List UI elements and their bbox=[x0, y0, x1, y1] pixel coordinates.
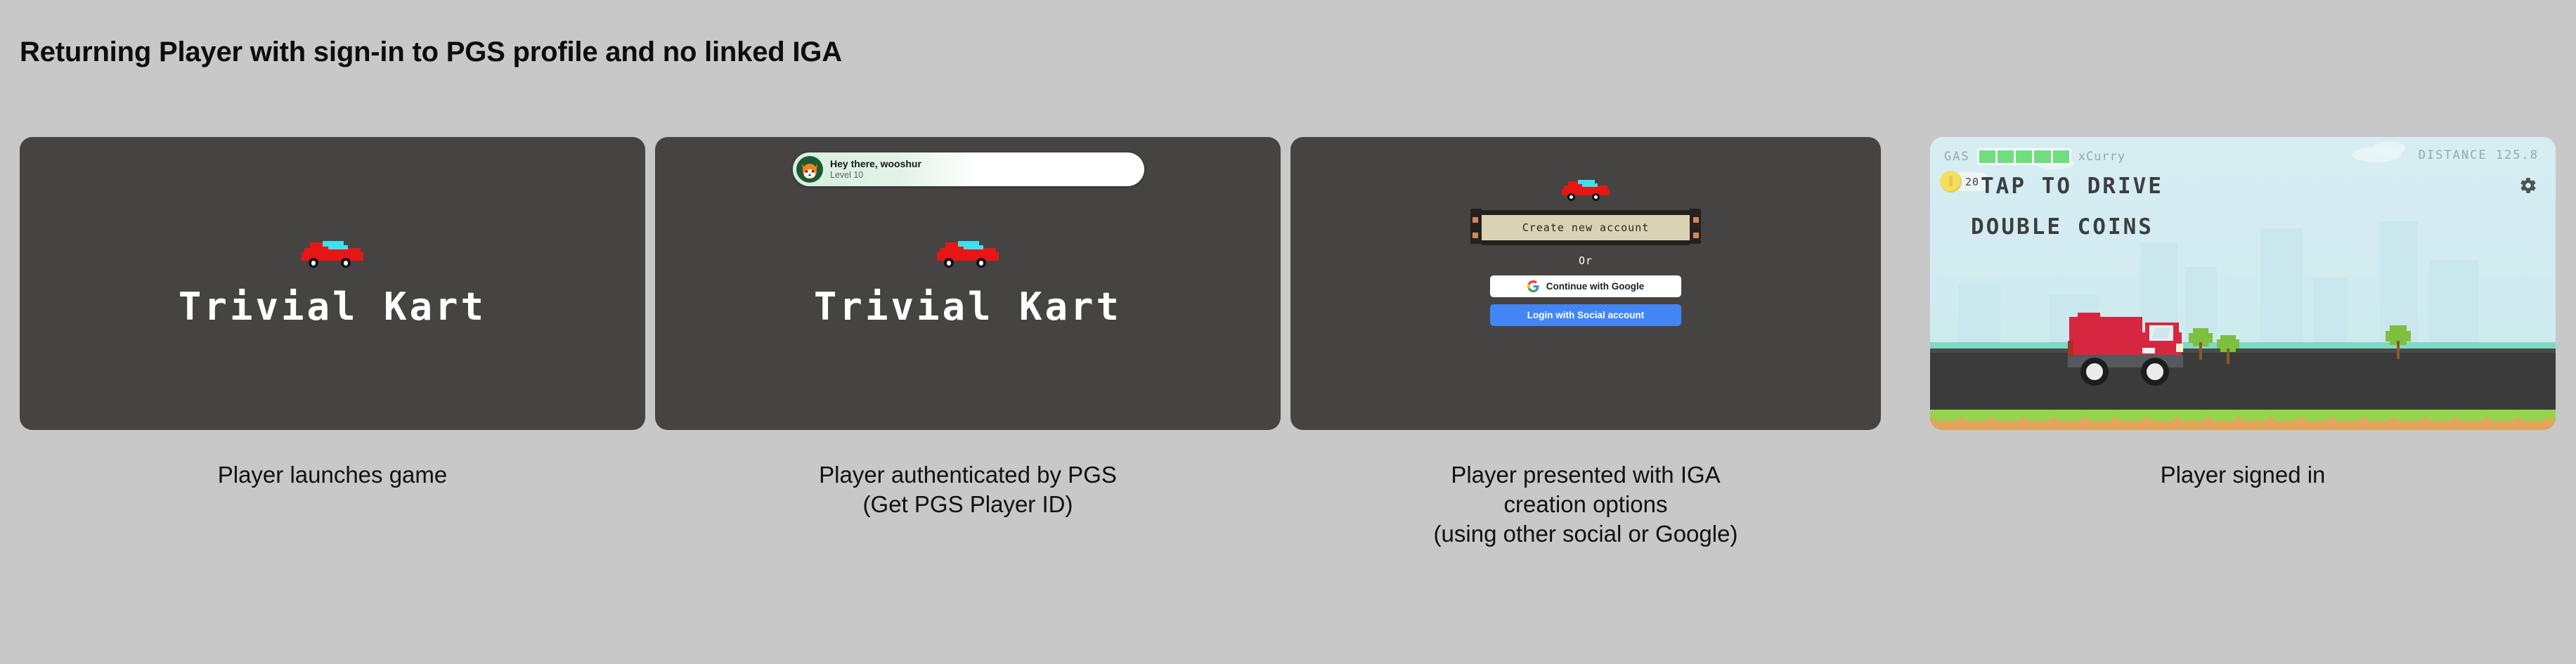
distance-readout: DISTANCE 125.8 bbox=[2419, 148, 2539, 162]
panel-row: Trivial Kart Trivial Kart bbox=[0, 137, 2576, 432]
road-edge bbox=[1930, 349, 2556, 353]
pgs-welcome-toast[interactable]: Hey there, wooshur Level 10 bbox=[793, 152, 1144, 186]
game-bottom-nav: GARAGE PGS STORE bbox=[1930, 427, 2556, 430]
create-new-account-button[interactable]: Create new account bbox=[1482, 210, 1690, 245]
page-title: Returning Player with sign-in to PGS pro… bbox=[20, 37, 842, 68]
flow-diagram-page: Returning Player with sign-in to PGS pro… bbox=[0, 0, 2576, 664]
login-with-social-label: Login with Social account bbox=[1527, 310, 1645, 320]
tap-to-drive-message: TAP TO DRIVE bbox=[1981, 174, 2163, 199]
skyline-building bbox=[1958, 285, 2000, 344]
or-divider-label: Or bbox=[1579, 254, 1593, 267]
gas-segment bbox=[1979, 150, 1995, 163]
red-pixel-car-icon bbox=[299, 238, 366, 269]
caption-player-launches-game: Player launches game bbox=[20, 460, 645, 490]
toast-greeting: Hey there, wooshur bbox=[830, 159, 921, 169]
gas-meter: GAS xCurry bbox=[1944, 148, 2125, 165]
red-pixel-car-icon bbox=[934, 238, 1002, 269]
coin-count: 20 bbox=[1965, 176, 1979, 188]
tree-icon bbox=[2217, 335, 2239, 363]
gas-segment bbox=[2034, 150, 2050, 163]
account-options-screen: Create new account Or Continue with Goog… bbox=[1290, 137, 1881, 430]
splash-screen: Trivial Kart bbox=[20, 137, 645, 430]
gas-segment bbox=[2053, 150, 2069, 163]
gas-segment bbox=[1998, 150, 2014, 163]
continue-with-google-label: Continue with Google bbox=[1546, 281, 1644, 292]
skyline-building bbox=[2313, 278, 2347, 344]
google-g-icon bbox=[1527, 280, 1539, 292]
continue-with-google-button[interactable]: Continue with Google bbox=[1490, 275, 1681, 297]
panel-iga-options: Create new account Or Continue with Goog… bbox=[1290, 137, 1881, 430]
caption-player-signed-in: Player signed in bbox=[1930, 460, 2556, 490]
panel-player-launches-game: Trivial Kart bbox=[20, 137, 645, 430]
game-title: Trivial Kart bbox=[814, 285, 1122, 329]
double-coins-message: DOUBLE COINS bbox=[1971, 214, 2154, 240]
toast-level: Level 10 bbox=[830, 171, 921, 180]
caption-iga-options: Player presented with IGA creation optio… bbox=[1290, 460, 1881, 549]
caption-player-authenticated: Player authenticated by PGS (Get PGS Pla… bbox=[655, 460, 1281, 519]
panel-player-authenticated: Trivial Kart bbox=[655, 137, 1281, 430]
login-with-social-button[interactable]: Login with Social account bbox=[1490, 304, 1681, 326]
skyline-building bbox=[2260, 228, 2303, 344]
gas-segment bbox=[2016, 150, 2032, 163]
cloud bbox=[2373, 141, 2405, 155]
coin-icon bbox=[1940, 171, 1962, 193]
game-title: Trivial Kart bbox=[179, 285, 486, 329]
fox-avatar-icon bbox=[796, 156, 823, 183]
create-new-account-label: Create new account bbox=[1522, 221, 1650, 234]
horizon-strip bbox=[1930, 342, 2556, 349]
gas-label: GAS bbox=[1944, 150, 1970, 164]
multiplier-label: xCurry bbox=[2078, 150, 2125, 164]
gear-icon[interactable] bbox=[2519, 176, 2537, 195]
red-pixel-car-icon bbox=[1560, 178, 1612, 202]
red-pickup-truck-icon bbox=[2068, 313, 2201, 396]
skyline-building bbox=[2429, 260, 2478, 344]
toast-text: Hey there, wooshur Level 10 bbox=[830, 159, 921, 180]
panel-player-signed-in: GAS xCurry DISTANCE 125.8 20 TAP TO bbox=[1930, 137, 2556, 430]
gas-bar bbox=[1977, 148, 2071, 165]
tree-icon bbox=[2386, 325, 2411, 359]
gameplay-screen: GAS xCurry DISTANCE 125.8 20 TAP TO bbox=[1930, 137, 2556, 430]
